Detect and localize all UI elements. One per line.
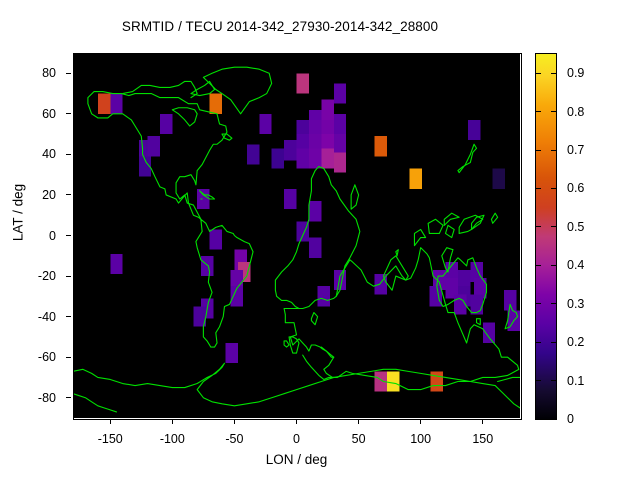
- heatmap-cell: [334, 114, 346, 134]
- coastline-path: [284, 341, 289, 347]
- heatmap-cell: [493, 169, 505, 189]
- coastline-path: [396, 250, 398, 256]
- colorbar-tick-label: 0.8: [567, 105, 584, 119]
- heatmap-cell: [197, 189, 209, 209]
- coastline-path: [351, 185, 358, 209]
- colorbar-tick-label: 0.2: [567, 335, 584, 349]
- colorbar-tick-mark: [536, 303, 541, 304]
- x-tick-mark: [234, 419, 235, 424]
- heatmap-cell: [201, 256, 213, 276]
- x-tick-mark: [358, 419, 359, 424]
- x-tick-mark: [482, 419, 483, 424]
- x-axis-ticks: -150-100-50050100150: [73, 424, 520, 444]
- x-tick-mark: [172, 419, 173, 424]
- heatmap-cell: [160, 114, 172, 134]
- y-tick-label: 40: [42, 147, 56, 161]
- heatmap-cell: [321, 148, 333, 168]
- x-tick-mark: [296, 419, 297, 424]
- coastline-path: [498, 377, 520, 381]
- heatmap-cell: [483, 323, 495, 343]
- colorbar-tick-mark: [551, 73, 556, 74]
- y-tick-mark: [66, 316, 71, 317]
- heatmap-cell: [284, 140, 296, 160]
- heatmap-cell: [309, 201, 321, 221]
- heatmap-cell: [309, 148, 321, 168]
- heatmap-cell: [110, 254, 122, 274]
- page-title: SRMTID / TECU 2014-342_27930-2014-342_28…: [0, 19, 560, 34]
- y-tick-label: 0: [49, 229, 56, 243]
- x-tick-mark: [110, 419, 111, 424]
- y-tick-mark: [66, 235, 71, 236]
- heatmap-cell: [318, 286, 330, 306]
- y-tick-label: -60: [38, 350, 56, 364]
- map-plot-area[interactable]: [73, 53, 520, 418]
- x-tick-label: -50: [225, 432, 243, 446]
- heatmap-cell: [210, 94, 222, 114]
- colorbar-tick-mark: [536, 73, 541, 74]
- coastline-path: [73, 363, 520, 408]
- colorbar-tick-mark: [536, 265, 541, 266]
- colorbar-tick-label: 0.6: [567, 181, 584, 195]
- colorbar-tick-mark: [536, 342, 541, 343]
- heatmap-cell: [297, 148, 309, 168]
- heatmap-cell: [226, 343, 238, 363]
- y-axis-label: LAT / deg: [11, 143, 26, 283]
- heatmap-cell-layer: [98, 73, 520, 391]
- coastline-path: [321, 347, 333, 357]
- y-tick-mark: [66, 357, 71, 358]
- coastline-path: [311, 313, 317, 325]
- heatmap-cell: [98, 94, 110, 114]
- world-heatmap: [73, 53, 520, 418]
- heatmap-cell: [375, 136, 387, 156]
- y-tick-label: 20: [42, 188, 56, 202]
- x-tick-label: -100: [160, 432, 185, 446]
- colorbar-tick-label: 0: [567, 412, 574, 426]
- heatmap-cell: [468, 120, 480, 140]
- colorbar-tick-label: 0.3: [567, 297, 584, 311]
- colorbar-tick-label: 0.7: [567, 143, 584, 157]
- y-tick-mark: [66, 194, 71, 195]
- colorbar-tick-mark: [536, 188, 541, 189]
- colorbar-tick-label: 0.5: [567, 220, 584, 234]
- colorbar-tick-mark: [551, 342, 556, 343]
- heatmap-cell: [259, 114, 271, 134]
- figure-canvas: SRMTID / TECU 2014-342_27930-2014-342_28…: [0, 0, 640, 480]
- heatmap-cell: [334, 134, 346, 154]
- x-tick-label: 0: [293, 432, 300, 446]
- heatmap-cell: [334, 83, 346, 103]
- x-tick-mark: [420, 419, 421, 424]
- heatmap-cell: [297, 73, 309, 93]
- heatmap-cell: [309, 238, 321, 258]
- heatmap-cell: [284, 189, 296, 209]
- colorbar-tick-mark: [551, 226, 556, 227]
- coastline-path: [222, 134, 232, 140]
- y-tick-label: 60: [42, 107, 56, 121]
- colorbar-tick-mark: [551, 380, 556, 381]
- heatmap-cell: [210, 229, 222, 249]
- coastline-path: [446, 225, 455, 237]
- heatmap-cell: [148, 136, 160, 156]
- y-tick-mark: [66, 113, 71, 114]
- coastline-path: [428, 219, 443, 233]
- x-tick-label: 50: [352, 432, 366, 446]
- coastline-path: [196, 219, 253, 347]
- y-tick-label: -20: [38, 269, 56, 283]
- x-tick-label: -150: [98, 432, 123, 446]
- heatmap-cell: [429, 286, 441, 306]
- coastline-path: [123, 81, 197, 97]
- coastline-path: [458, 144, 477, 172]
- colorbar-tick-label: 0.9: [567, 66, 584, 80]
- heatmap-cell: [247, 144, 259, 164]
- colorbar-tick-label: 0.4: [567, 258, 584, 272]
- coastline-path: [73, 394, 116, 412]
- coastline-path: [284, 248, 519, 390]
- heatmap-cell: [387, 371, 399, 391]
- heatmap-cell: [409, 169, 421, 189]
- colorbar-tick-mark: [551, 303, 556, 304]
- colorbar-tick-mark: [536, 150, 541, 151]
- coastline-path: [172, 108, 197, 126]
- heatmap-cell: [272, 148, 284, 168]
- heatmap-cell: [431, 371, 443, 391]
- y-tick-label: 80: [42, 66, 56, 80]
- colorbar-tick-mark: [551, 111, 556, 112]
- x-tick-label: 150: [472, 432, 493, 446]
- y-tick-mark: [66, 154, 71, 155]
- colorbar-tick-mark: [536, 226, 541, 227]
- colorbar-tick-mark: [536, 111, 541, 112]
- colorbar-tick-mark: [536, 380, 541, 381]
- colorbar-tick-mark: [551, 188, 556, 189]
- coastline-path: [191, 81, 215, 95]
- heatmap-cell: [334, 152, 346, 172]
- colorbar-tick-label: 0.1: [567, 374, 584, 388]
- coastline-path: [444, 213, 459, 225]
- y-tick-label: -40: [38, 310, 56, 324]
- coastline-path: [414, 229, 425, 245]
- y-tick-mark: [66, 397, 71, 398]
- coastline-path: [477, 319, 481, 325]
- y-tick-mark: [66, 276, 71, 277]
- x-tick-label: 100: [410, 432, 431, 446]
- colorbar-tick-mark: [551, 265, 556, 266]
- y-tick-mark: [66, 73, 71, 74]
- x-axis-label: LON / deg: [73, 452, 520, 467]
- y-tick-label: -80: [38, 391, 56, 405]
- colorbar-tick-mark: [551, 150, 556, 151]
- heatmap-cell: [321, 100, 333, 120]
- heatmap-cell: [334, 270, 346, 290]
- heatmap-cell: [110, 94, 122, 114]
- colorbar-ticks: 0.90.80.70.60.50.40.30.20.10: [535, 53, 625, 420]
- coastline-path: [491, 213, 497, 223]
- heatmap-cell: [470, 294, 482, 314]
